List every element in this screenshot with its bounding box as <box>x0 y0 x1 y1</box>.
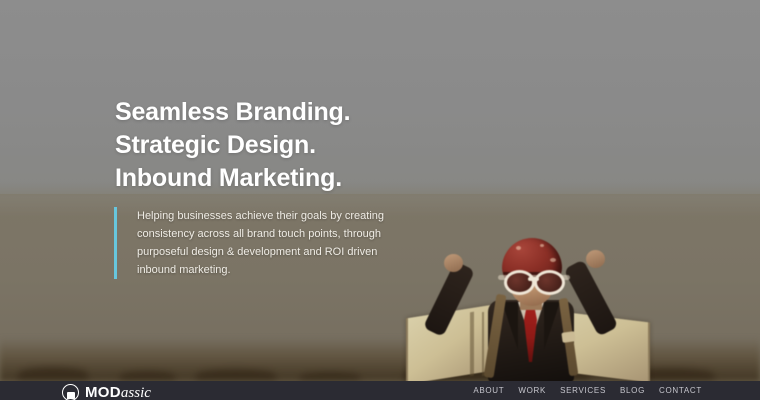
headline-line-3: Inbound Marketing. <box>115 162 545 195</box>
brand-logo[interactable]: MODassic <box>62 384 151 400</box>
brand-name-bold: MOD <box>85 384 121 400</box>
nav-link-contact[interactable]: CONTACT <box>659 386 702 395</box>
nav-link-work[interactable]: WORK <box>518 386 546 395</box>
hero-headline: Seamless Branding. Strategic Design. Inb… <box>115 96 545 195</box>
brand-name-italic: assic <box>121 385 151 400</box>
hero-blurb-text: Helping businesses achieve their goals b… <box>137 207 387 279</box>
strap-buckle <box>561 331 575 343</box>
nav-links: ABOUT WORK SERVICES BLOG CONTACT <box>473 386 702 395</box>
nav-link-services[interactable]: SERVICES <box>560 386 606 395</box>
headline-line-2: Strategic Design. <box>115 129 545 162</box>
aviator-goggles <box>504 270 562 289</box>
fist-left <box>444 254 463 272</box>
headline-line-1: Seamless Branding. <box>115 96 545 129</box>
site-navbar: MODassic ABOUT WORK SERVICES BLOG CONTAC… <box>0 381 760 400</box>
hero-blurb: Helping businesses achieve their goals b… <box>114 207 387 279</box>
brand-name: MODassic <box>85 385 151 400</box>
nav-link-about[interactable]: ABOUT <box>473 386 504 395</box>
child-aviator-figure <box>404 236 656 381</box>
circle-emblem-icon <box>62 384 79 400</box>
hero-section: Seamless Branding. Strategic Design. Inb… <box>0 0 760 400</box>
fist-right <box>586 250 605 268</box>
nav-link-blog[interactable]: BLOG <box>620 386 645 395</box>
